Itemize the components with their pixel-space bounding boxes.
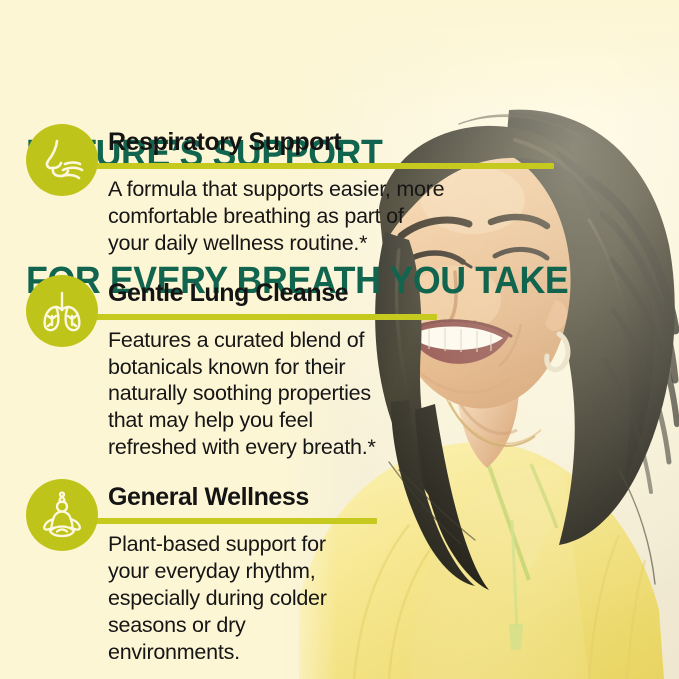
feature-general-wellness: General Wellness Plant-based support for… [0,479,679,665]
feature-divider [92,163,554,169]
feature-title: Respiratory Support [108,130,679,155]
feature-description: Features a curated blend of botanicals k… [108,327,679,461]
feature-divider [92,314,437,320]
feature-list: Respiratory Support A formula that suppo… [0,124,679,677]
meditating-person-icon [36,489,88,541]
feature-description: A formula that supports easier, more com… [108,176,679,257]
meditating-person-icon-badge [26,479,98,551]
feature-gentle-lung-cleanse: Gentle Lung Cleanse Features a curated b… [0,275,679,461]
feature-title: General Wellness [108,485,679,510]
feature-respiratory-support: Respiratory Support A formula that suppo… [0,124,679,257]
feature-title: Gentle Lung Cleanse [108,281,679,306]
infographic-panel: NATURE’S SUPPORT FOR EVERY BREATH YOU TA… [0,0,679,679]
lungs-icon-badge [26,275,98,347]
nose-breathing-icon [36,134,88,186]
feature-divider [92,518,377,524]
feature-description: Plant-based support for your everyday rh… [108,531,679,665]
nose-breathing-icon-badge [26,124,98,196]
lungs-icon [36,285,88,337]
